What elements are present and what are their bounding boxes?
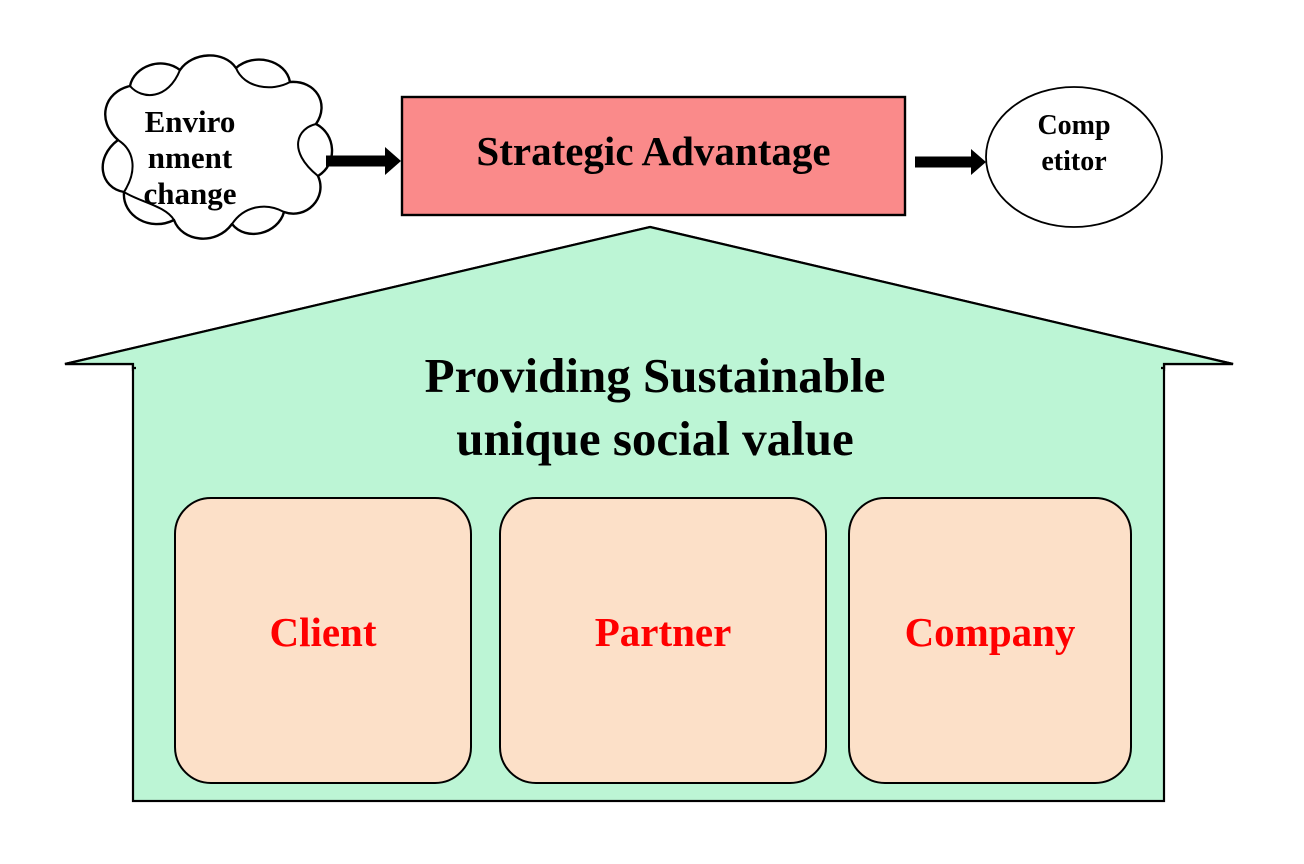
- pillar-label-client: Client: [175, 608, 471, 656]
- competitor-line-1: Comp: [990, 108, 1158, 144]
- house-headline-line-1: Providing Sustainable: [260, 345, 1050, 408]
- house-headline: Providing Sustainable unique social valu…: [260, 345, 1050, 470]
- diagram-canvas: Enviro nment change Strategic Advantage …: [0, 0, 1304, 864]
- competitor-line-2: etitor: [990, 144, 1158, 180]
- competitor-label: Comp etitor: [990, 108, 1158, 180]
- environment-change-line-3: change: [60, 176, 320, 212]
- pillar-label-partner: Partner: [500, 608, 826, 656]
- environment-change-line-1: Enviro: [60, 104, 320, 140]
- arrow-environment-to-strategic-icon: [326, 147, 401, 175]
- environment-change-line-2: nment: [60, 140, 320, 176]
- arrow-strategic-to-competitor-icon: [915, 149, 986, 175]
- house-headline-line-2: unique social value: [260, 408, 1050, 471]
- pillar-label-company: Company: [849, 608, 1131, 656]
- strategic-advantage-label: Strategic Advantage: [402, 127, 905, 175]
- environment-change-label: Enviro nment change: [60, 104, 320, 212]
